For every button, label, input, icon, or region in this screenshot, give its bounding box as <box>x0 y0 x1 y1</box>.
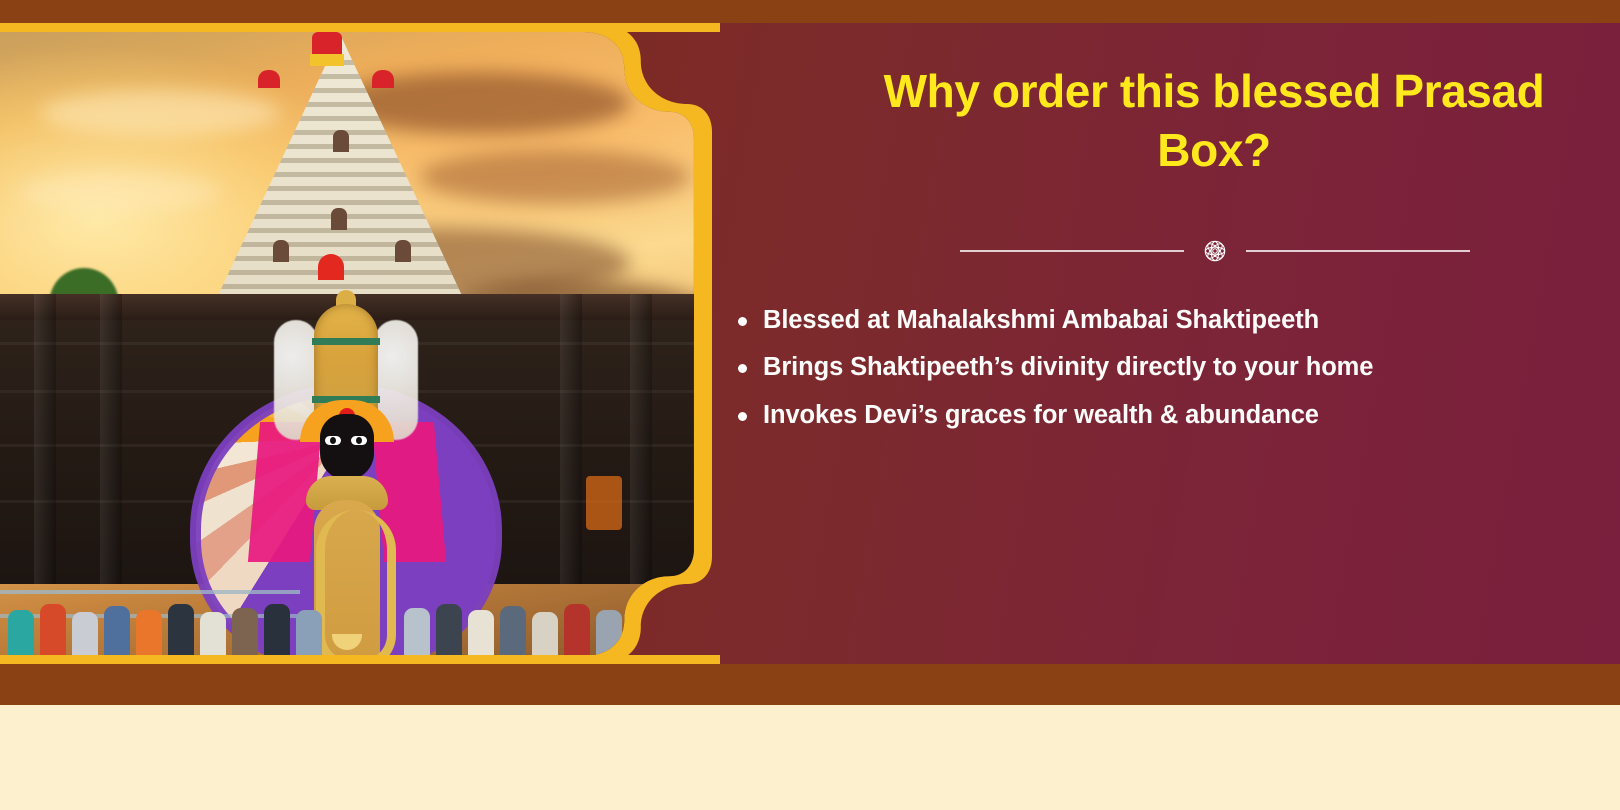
idol-eye-right <box>351 436 367 445</box>
cloud-icon <box>40 90 280 136</box>
divider-line-left <box>960 250 1184 252</box>
list-item-label: Invokes Devi’s graces for wealth & abund… <box>763 395 1523 436</box>
bottom-gold-rule <box>0 655 720 664</box>
idol-eye-left <box>325 436 341 445</box>
list-item: Blessed at Mahalakshmi Ambabai Shaktipee… <box>738 300 1618 341</box>
benefits-list: Blessed at Mahalakshmi Ambabai Shaktipee… <box>738 300 1618 442</box>
temple-photo-card <box>0 24 712 664</box>
devotee-crowd <box>0 580 696 656</box>
cloud-icon <box>420 150 690 204</box>
promo-content: Why order this blessed Prasad Box? Bless… <box>790 0 1620 705</box>
bullet-dot-icon <box>738 412 747 421</box>
footer-band <box>0 705 1620 810</box>
idol-face <box>320 414 374 480</box>
list-item: Brings Shaktipeeth’s divinity directly t… <box>738 347 1618 388</box>
kalash-gold-band <box>310 54 344 66</box>
rosette-flower-icon <box>1200 236 1230 266</box>
list-item: Invokes Devi’s graces for wealth & abund… <box>738 395 1618 436</box>
list-item-label: Brings Shaktipeeth’s divinity directly t… <box>763 347 1523 388</box>
page-title: Why order this blessed Prasad Box? <box>844 62 1584 180</box>
bullet-dot-icon <box>738 364 747 373</box>
prasad-box-promo-banner: Why order this blessed Prasad Box? Bless… <box>0 0 1620 810</box>
ornamental-divider <box>960 233 1470 269</box>
divider-line-right <box>1246 250 1470 252</box>
bullet-dot-icon <box>738 317 747 326</box>
temple-photo <box>0 32 696 656</box>
cloud-icon <box>20 172 220 212</box>
list-item-label: Blessed at Mahalakshmi Ambabai Shaktipee… <box>763 300 1523 341</box>
